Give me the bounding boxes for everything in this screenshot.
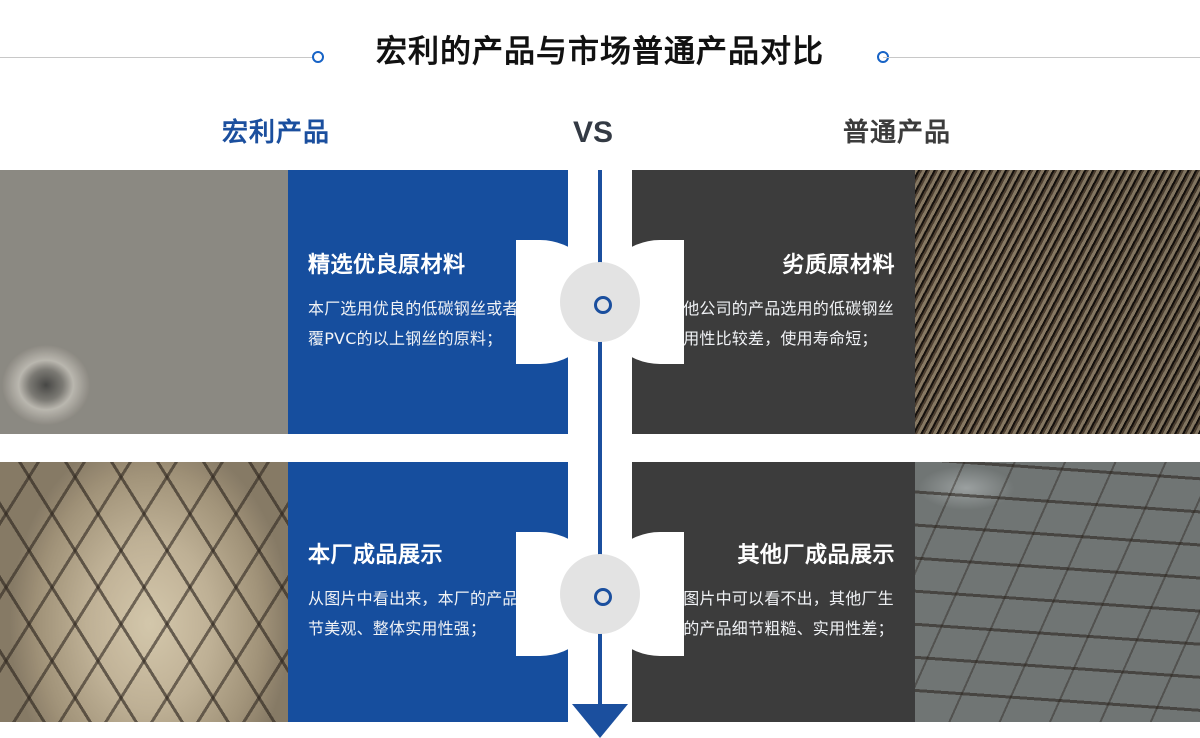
gabion-boulder-image	[0, 462, 288, 722]
steel-wire-coils-image	[0, 170, 288, 434]
card-title: 其他厂成品展示	[667, 540, 895, 572]
ring-node-icon-1	[560, 262, 640, 342]
page-header: 宏利的产品与市场普通产品对比	[0, 0, 1200, 106]
ring-node-icon-2	[560, 554, 640, 634]
header-rule-right	[883, 57, 1200, 58]
column-headings: 宏利产品 VS 普通产品	[0, 113, 1200, 165]
card-body: 从图片中可以看不出，其他厂生产的产品细节粗糙、实用性差；	[667, 584, 895, 644]
photo-ours-product	[0, 462, 288, 722]
column-label-common: 普通产品	[843, 113, 951, 153]
rough-stone-gabion-image	[915, 462, 1200, 722]
page-title: 宏利的产品与市场普通产品对比	[0, 30, 1200, 74]
card-body: 其他公司的产品选用的低碳钢丝实用性比较差，使用寿命短；	[667, 294, 895, 354]
card-title: 劣质原材料	[667, 250, 895, 282]
column-label-ours: 宏利产品	[222, 113, 330, 153]
photo-ours-materials	[0, 170, 288, 434]
photo-common-product	[915, 462, 1200, 722]
rusty-wire-coil-image	[915, 170, 1200, 434]
photo-common-materials	[915, 170, 1200, 434]
card-body: 从图片中看出来，本厂的产品细节美观、整体实用性强；	[308, 584, 536, 644]
card-title: 本厂成品展示	[308, 540, 536, 572]
column-label-vs: VS	[573, 113, 613, 153]
comparison-infographic: 宏利的产品与市场普通产品对比 宏利产品 VS 普通产品 精选优良原材料 本厂选用…	[0, 0, 1200, 738]
card-body: 本厂选用优良的低碳钢丝或者包覆PVC的以上钢丝的原料；	[308, 294, 536, 354]
card-title: 精选优良原材料	[308, 250, 536, 282]
triangle-down-icon	[572, 704, 628, 738]
